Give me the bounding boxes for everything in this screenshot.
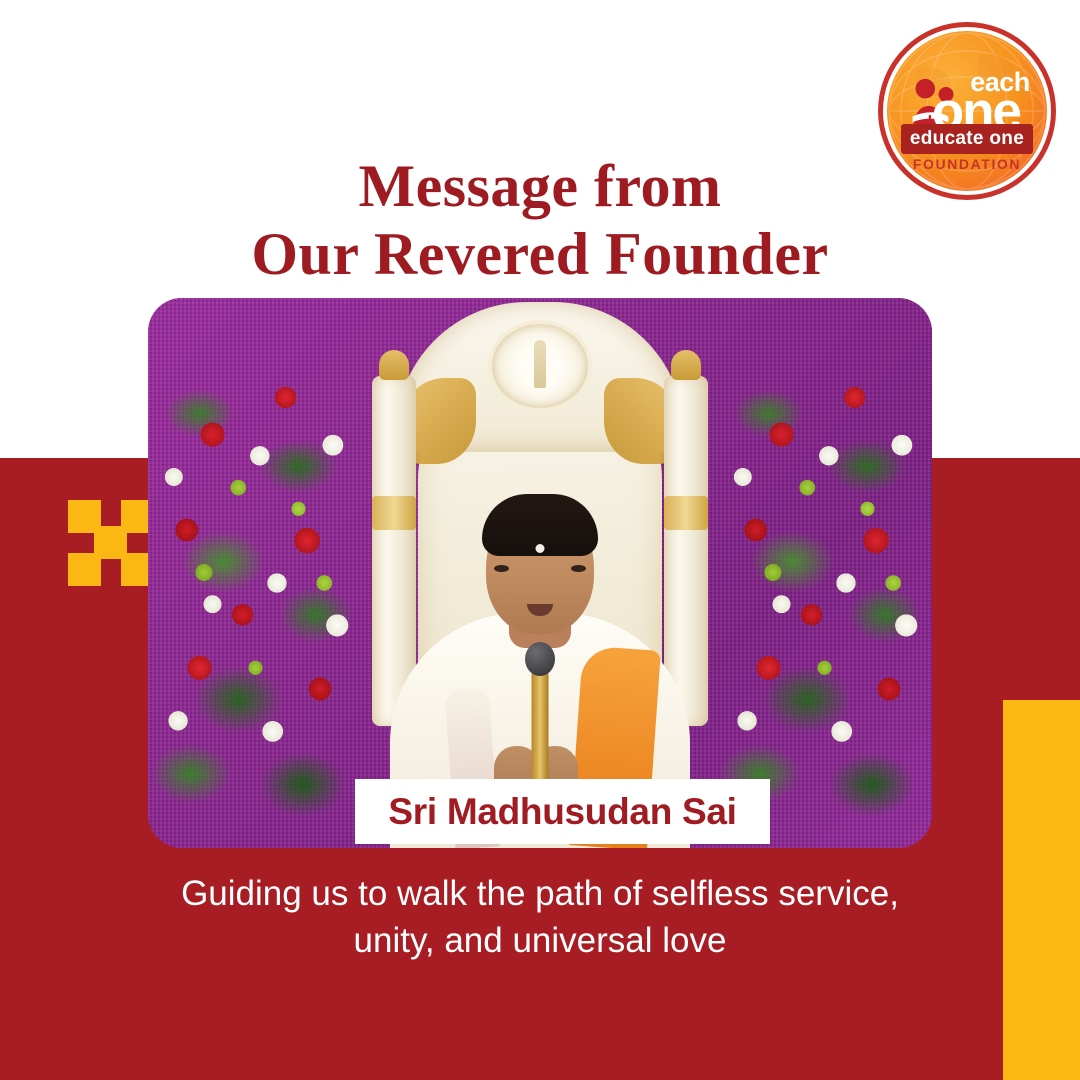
founder-name: Sri Madhusudan Sai — [388, 791, 736, 833]
poster-canvas: each one educate one FOUNDATION Message … — [0, 0, 1080, 1080]
page-title-line-1: Message from — [358, 153, 721, 219]
sarva-dharma-lamp-icon — [534, 340, 546, 388]
page-title: Message from Our Revered Founder — [0, 152, 1080, 289]
page-title-line-2: Our Revered Founder — [0, 220, 1080, 288]
floral-arrangement-right — [717, 318, 932, 848]
logo-band-text: educate one — [910, 128, 1024, 150]
caption-line-1: Guiding us to walk the path of selfless … — [120, 870, 960, 917]
logo-educate-one-band: educate one — [901, 124, 1032, 154]
eye-right — [571, 565, 586, 572]
tilak-mark — [536, 544, 545, 553]
caption-text: Guiding us to walk the path of selfless … — [0, 870, 1080, 965]
throne-crest — [396, 302, 684, 452]
founder-photo — [148, 298, 932, 848]
checkerboard-accent — [68, 500, 154, 586]
pillar-cap-left — [379, 350, 409, 380]
microphone-body — [532, 668, 549, 788]
eye-left — [494, 565, 509, 572]
microphone-head — [525, 642, 555, 676]
caption-line-2: unity, and universal love — [120, 917, 960, 964]
white-blooms-left — [148, 318, 363, 848]
floral-arrangement-left — [148, 318, 363, 848]
checker-square-bottom-left — [68, 553, 101, 586]
crest-medallion — [492, 324, 588, 408]
white-blooms-right — [717, 318, 932, 848]
pillar-cap-right — [671, 350, 701, 380]
founder-nameplate: Sri Madhusudan Sai — [355, 779, 770, 844]
